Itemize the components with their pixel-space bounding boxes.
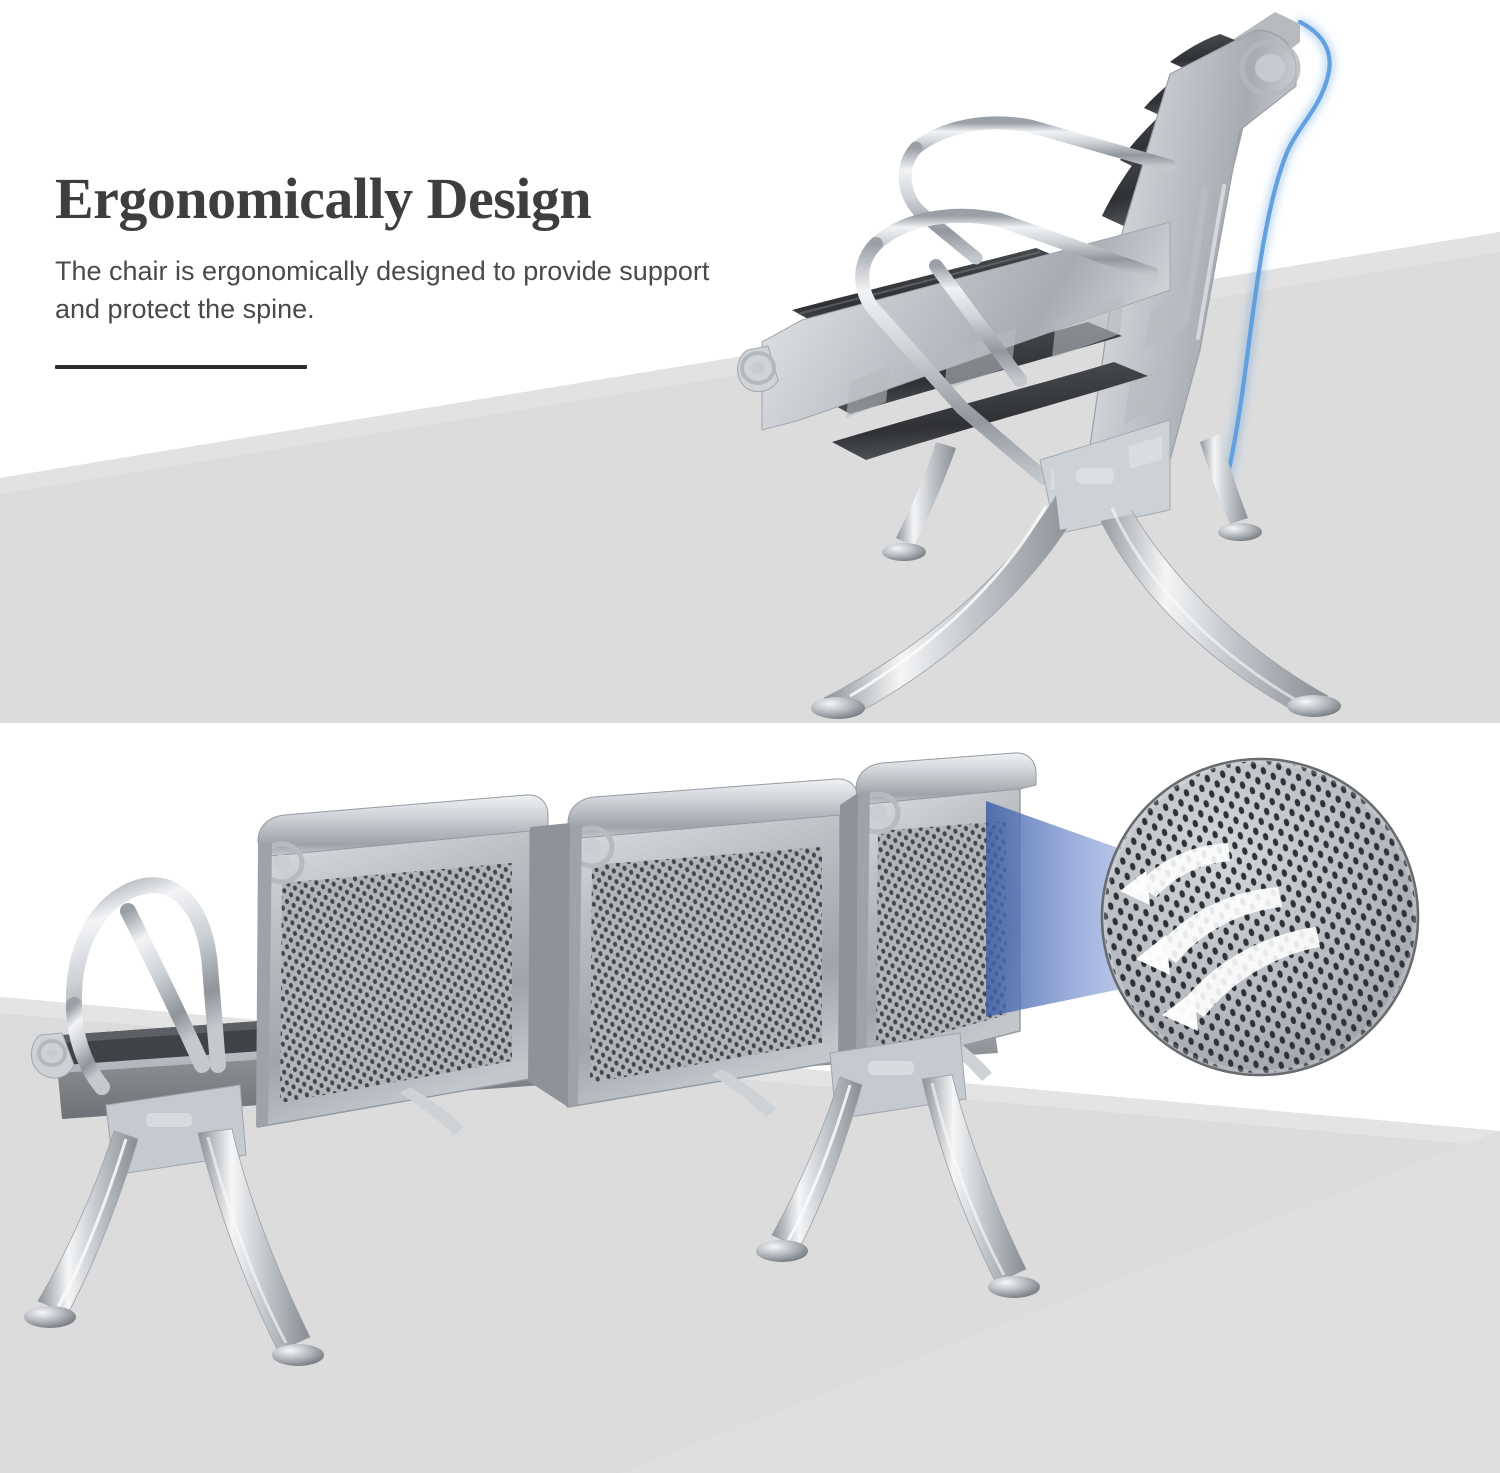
ergonomic-text-block: Ergonomically Design The chair is ergono… <box>55 170 715 369</box>
leveling-foot <box>811 697 865 719</box>
mesh-backrest-2 <box>528 779 858 1117</box>
leveling-foot <box>756 1240 808 1262</box>
leveling-foot <box>1218 523 1262 541</box>
magnifier-lens <box>1102 759 1418 1075</box>
panel-top-heading: Ergonomically Design <box>55 170 715 228</box>
bench-x-base-left <box>24 1085 324 1366</box>
panel-divider <box>0 723 1500 735</box>
mesh-backrest-1 <box>256 795 548 1135</box>
chair-x-base <box>811 440 1341 719</box>
panel-breathable-back: Breathable Back Pu leather with breathab… <box>0 735 1500 1473</box>
leveling-foot <box>272 1344 324 1366</box>
leveling-foot <box>988 1276 1040 1298</box>
leveling-foot <box>24 1306 76 1328</box>
chair-side-view-illustration <box>700 0 1460 723</box>
breathable-mesh-magnifier-callout <box>960 745 1480 1125</box>
leveling-foot <box>882 543 926 561</box>
panel-top-body: The chair is ergonomically designed to p… <box>55 252 715 329</box>
panel-top-underline-rule <box>55 365 307 369</box>
panel-ergonomic-design: Ergonomically Design The chair is ergono… <box>0 0 1500 723</box>
product-feature-image: Ergonomically Design The chair is ergono… <box>0 0 1500 1473</box>
leveling-foot <box>1287 695 1341 717</box>
